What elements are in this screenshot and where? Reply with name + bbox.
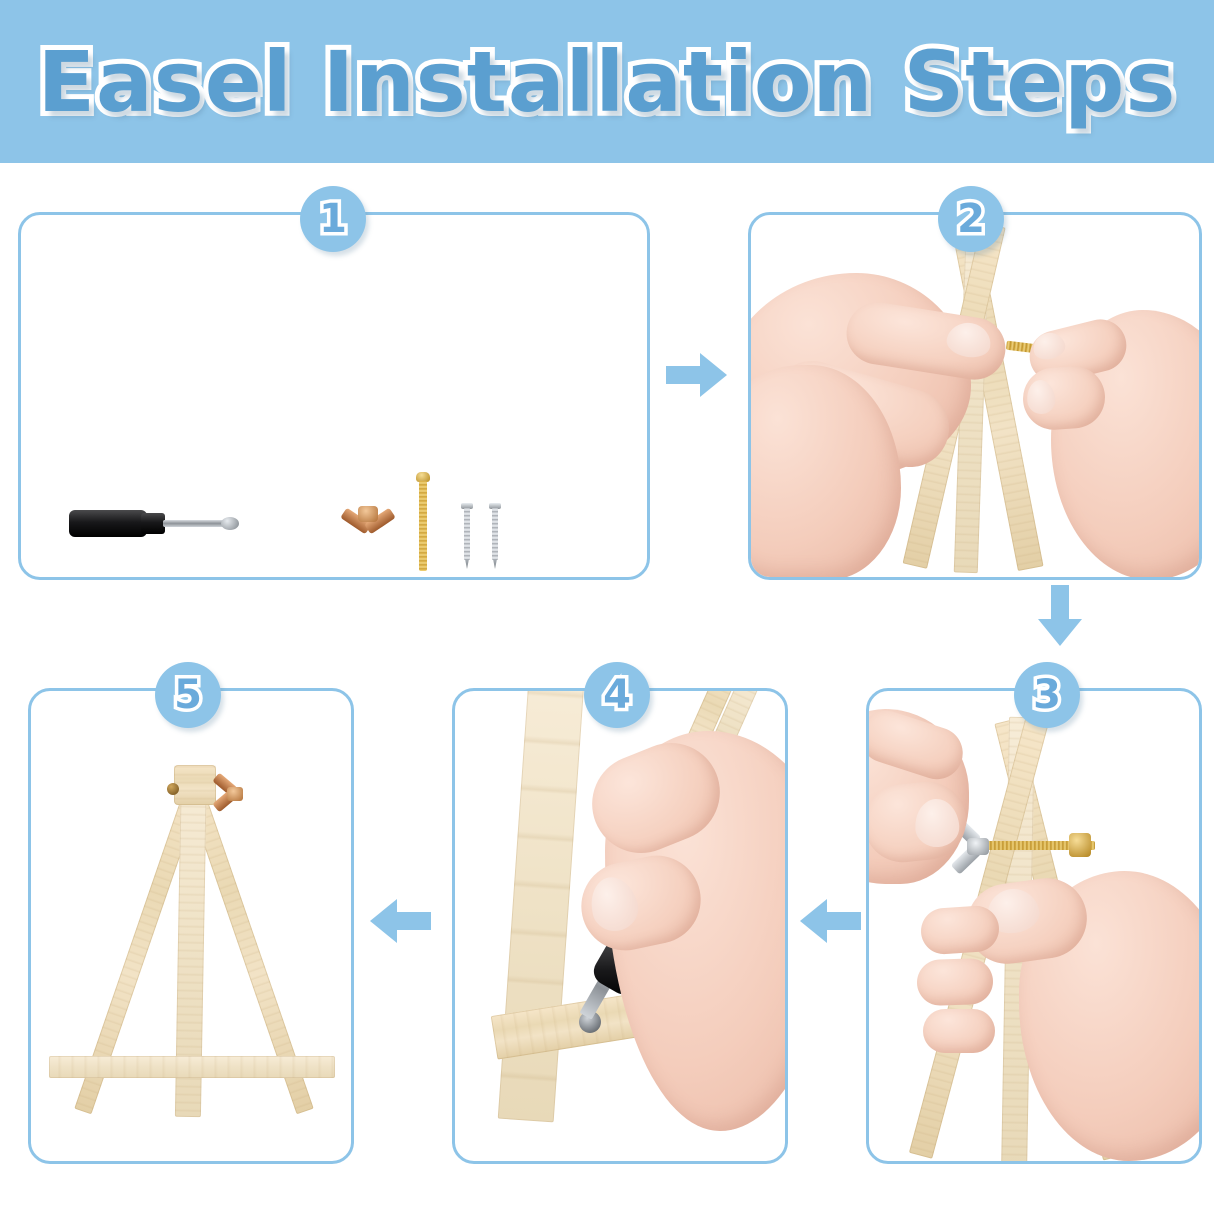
step-4-illustration	[455, 691, 785, 1161]
step-3-illustration	[869, 691, 1199, 1161]
screwdriver-icon	[69, 506, 239, 540]
arrow-right-icon	[666, 352, 728, 398]
page-title: Easel Installation Steps	[38, 33, 1177, 131]
long-bolt-icon	[416, 472, 430, 572]
header-banner: Easel Installation Steps	[0, 0, 1214, 163]
bolt-head	[167, 783, 179, 795]
step-3-badge: 3	[1014, 662, 1080, 728]
arrow-step3-to-step4	[800, 898, 862, 944]
finger	[916, 958, 994, 1007]
step-2-illustration	[751, 215, 1199, 577]
step-1-badge: 1	[300, 186, 366, 252]
arrow-step1-to-step2	[666, 352, 728, 398]
step-1-illustration	[21, 215, 647, 577]
finger	[923, 1009, 995, 1053]
step-4-panel	[452, 688, 788, 1164]
step-2-badge: 2	[938, 186, 1004, 252]
front-leg	[498, 691, 585, 1122]
arrow-down-icon	[1037, 585, 1083, 647]
bolt-head	[1069, 833, 1091, 857]
arrow-left-icon	[370, 898, 432, 944]
arrow-left-icon	[800, 898, 862, 944]
step-5-panel	[28, 688, 354, 1164]
wing-nut-icon	[339, 503, 397, 537]
screw-icon	[489, 503, 501, 573]
crossbar	[49, 1056, 335, 1078]
step-5-illustration	[31, 691, 351, 1161]
arrow-step2-to-step3	[1037, 585, 1083, 647]
step-1-panel	[18, 212, 650, 580]
step-5-badge: 5	[155, 662, 221, 728]
wing-nut-icon	[213, 775, 245, 811]
step-2-panel	[748, 212, 1202, 580]
finger	[919, 904, 1000, 955]
step-4-badge: 4	[584, 662, 650, 728]
arrow-step4-to-step5	[370, 898, 432, 944]
screw-icon	[461, 503, 473, 573]
easel-top-joint	[174, 765, 216, 805]
step-3-panel	[866, 688, 1202, 1164]
